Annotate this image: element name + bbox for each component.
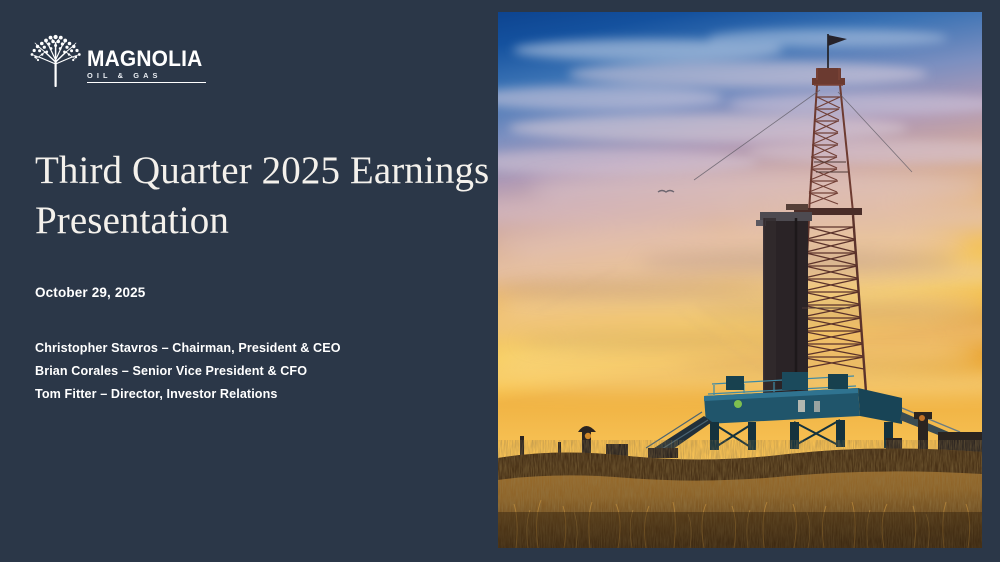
logo-underline-rule: [87, 82, 206, 84]
list-item: Christopher Stavros – Chairman, Presiden…: [35, 337, 475, 360]
logo-wordmark: MAGNOLIA OIL & GAS: [87, 48, 187, 83]
page-title: Third Quarter 2025 Earnings Presentation: [35, 146, 490, 246]
company-logo: MAGNOLIA OIL & GAS: [27, 31, 187, 89]
presenter-list: Christopher Stavros – Chairman, Presiden…: [35, 337, 475, 406]
logo-company-tagline: OIL & GAS: [87, 71, 187, 80]
presentation-slide: MAGNOLIA OIL & GAS Third Quarter 2025 Ea…: [0, 0, 1000, 562]
list-item: Brian Corales – Senior Vice President & …: [35, 360, 475, 383]
logo-company-name: MAGNOLIA: [87, 48, 180, 70]
presentation-date: October 29, 2025: [35, 285, 145, 300]
list-item: Tom Fitter – Director, Investor Relation…: [35, 383, 475, 406]
drilling-rig-sunset-photo: [498, 12, 982, 548]
magnolia-tree-icon: [27, 31, 85, 87]
